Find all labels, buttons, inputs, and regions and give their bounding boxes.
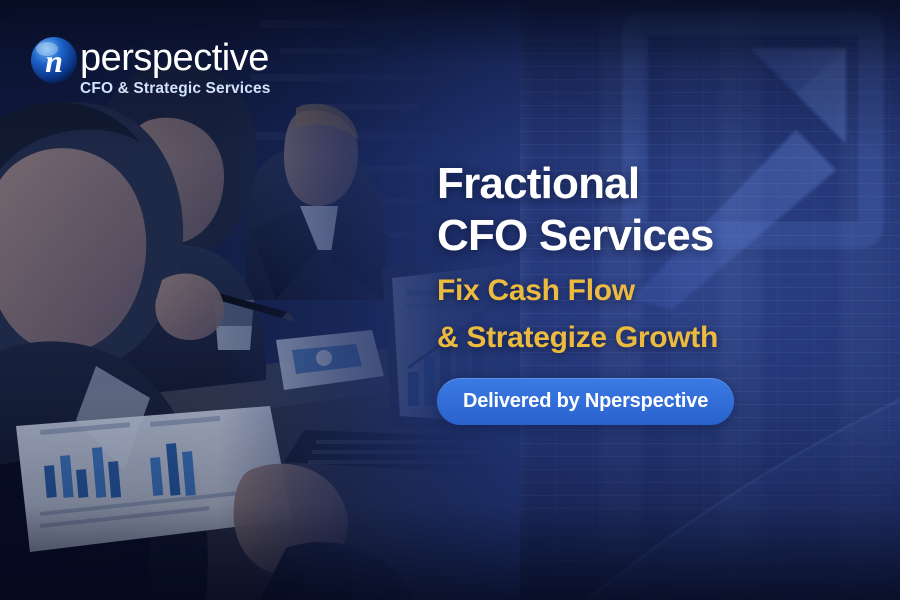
brand-tagline: CFO & Strategic Services (80, 80, 271, 98)
subheadline-line-2: & Strategize Growth (437, 320, 867, 356)
hero-copy-block: Fractional CFO Services Fix Cash Flow & … (437, 158, 867, 425)
marketing-banner: n perspective CFO & Strategic Services F… (0, 0, 900, 600)
brand-logo[interactable]: n perspective CFO & Strategic Services (30, 36, 271, 98)
sphere-logo-icon: n (30, 36, 78, 84)
brand-name: perspective (80, 38, 271, 78)
headline-line-1: Fractional (437, 158, 867, 210)
delivered-by-cta-button[interactable]: Delivered by Nperspective (437, 378, 734, 425)
headline-line-2: CFO Services (437, 210, 867, 262)
subheadline-line-1: Fix Cash Flow (437, 273, 867, 309)
svg-text:n: n (45, 43, 63, 79)
